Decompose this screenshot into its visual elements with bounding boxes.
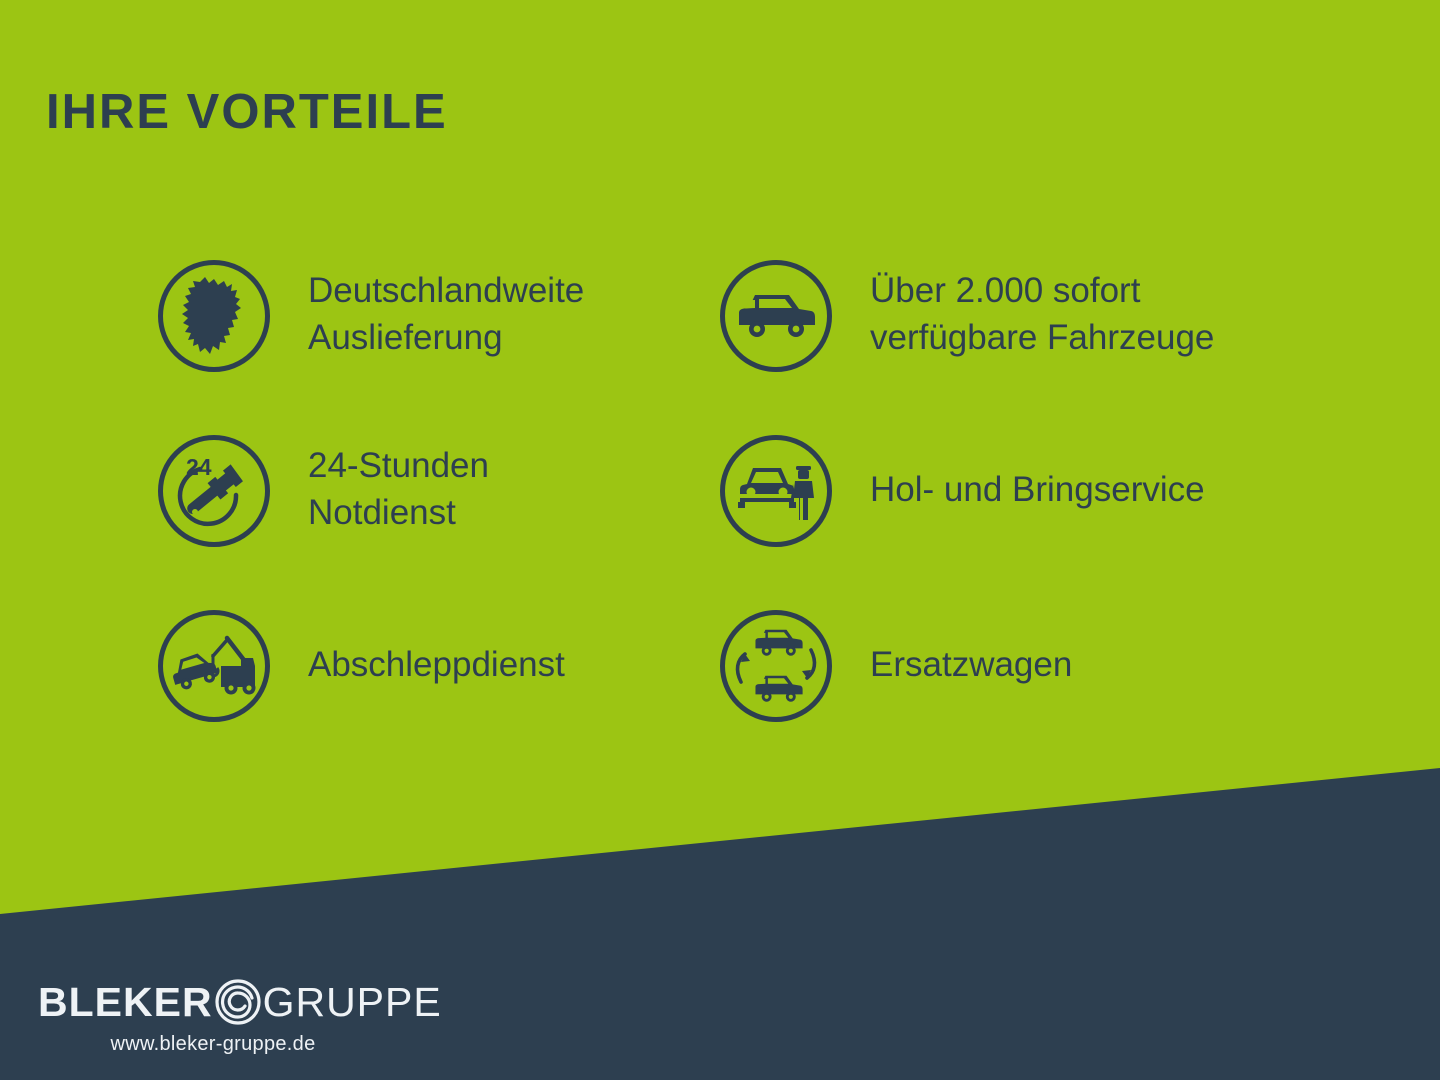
- germany-map-icon: [158, 260, 270, 372]
- 24-badge-text: 24: [186, 454, 212, 480]
- benefit-item-abschleppdienst: Abschleppdienst: [158, 578, 720, 753]
- page-title: IHRE VORTEILE: [46, 88, 448, 137]
- car-with-driver-icon: [720, 435, 832, 547]
- benefit-item-verfuegbare-fahrzeuge: Über 2.000 sofort verfügbare Fahrzeuge: [720, 228, 1282, 403]
- logo-wordmark: BLEKER GRUPPE: [38, 978, 418, 1026]
- benefit-label: Abschleppdienst: [308, 642, 565, 688]
- slide-canvas: IHRE VORTEILE Deutschlandweite Ausliefer…: [0, 0, 1440, 1080]
- benefit-item-deutschlandweite-auslieferung: Deutschlandweite Auslieferung: [158, 228, 720, 403]
- car-exchange-icon: [720, 610, 832, 722]
- benefit-label: Über 2.000 sofort verfügbare Fahrzeuge: [870, 268, 1214, 360]
- footer-logo-block: BLEKER GRUPPE www.bleker-gruppe.de: [38, 978, 418, 1056]
- benefit-item-ersatzwagen: Ersatzwagen: [720, 578, 1282, 753]
- benefit-item-hol-und-bringservice: Hol- und Bringservice: [720, 403, 1282, 578]
- spiral-logo-icon: [214, 978, 262, 1026]
- car-side-icon: [720, 260, 832, 372]
- tow-truck-icon: [158, 610, 270, 722]
- benefit-item-24-stunden-notdienst: 24 24-Stunden Notdienst: [158, 403, 720, 578]
- benefit-label: 24-Stunden Notdienst: [308, 443, 489, 535]
- benefit-label: Hol- und Bringservice: [870, 467, 1205, 513]
- benefits-grid: Deutschlandweite Auslieferung Über 2.000…: [158, 228, 1378, 753]
- 24-hour-wrench-icon: 24: [158, 435, 270, 547]
- benefit-label: Deutschlandweite Auslieferung: [308, 268, 584, 360]
- benefit-label: Ersatzwagen: [870, 642, 1072, 688]
- logo-url-text: www.bleker-gruppe.de: [38, 1033, 388, 1056]
- logo-secondary-text: GRUPPE: [263, 982, 442, 1023]
- logo-primary-text: BLEKER: [38, 982, 213, 1023]
